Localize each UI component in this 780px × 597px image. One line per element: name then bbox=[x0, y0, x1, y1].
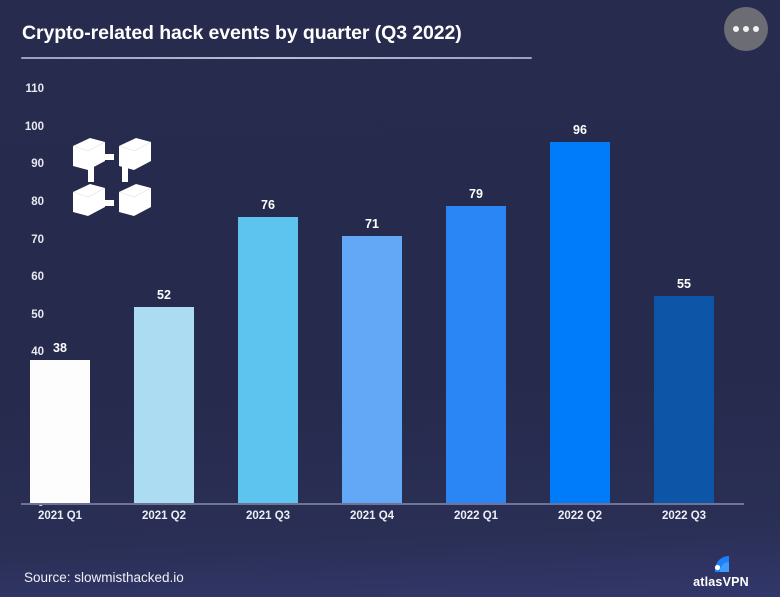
bar-group: 96 bbox=[550, 142, 610, 503]
atlasvpn-signal-icon bbox=[678, 548, 764, 574]
more-dot-2 bbox=[743, 26, 749, 32]
bar-group: 76 bbox=[238, 217, 298, 503]
bar[interactable] bbox=[446, 206, 506, 503]
brand-name: atlasVPN bbox=[678, 575, 764, 589]
bar-group: 55 bbox=[654, 296, 714, 503]
more-dot-3 bbox=[753, 26, 759, 32]
bar-value-label: 38 bbox=[30, 341, 90, 355]
bars-layer: 382021 Q1522021 Q2762021 Q3712021 Q47920… bbox=[0, 72, 780, 532]
source-label: Source: slowmisthacked.io bbox=[24, 570, 184, 585]
bar-value-label: 79 bbox=[446, 187, 506, 201]
page-title: Crypto-related hack events by quarter (Q… bbox=[22, 22, 462, 45]
chart-header: Crypto-related hack events by quarter (Q… bbox=[0, 0, 780, 72]
bar-group: 52 bbox=[134, 307, 194, 503]
x-axis-label: 2021 Q1 bbox=[8, 510, 112, 522]
title-underline bbox=[21, 57, 532, 59]
x-axis-label: 2022 Q2 bbox=[528, 510, 632, 522]
bar-value-label: 76 bbox=[238, 198, 298, 212]
bar[interactable] bbox=[30, 360, 90, 503]
x-axis-label: 2021 Q3 bbox=[216, 510, 320, 522]
bar[interactable] bbox=[654, 296, 714, 503]
bar[interactable] bbox=[134, 307, 194, 503]
bar-chart: 1101009080706050403020100 382021 Q152202… bbox=[0, 72, 780, 532]
bar-group: 79 bbox=[446, 206, 506, 503]
bar-value-label: 55 bbox=[654, 277, 714, 291]
x-axis-label: 2022 Q3 bbox=[632, 510, 736, 522]
more-horizontal-icon[interactable] bbox=[724, 7, 768, 51]
bar-value-label: 96 bbox=[550, 123, 610, 137]
bar-group: 38 bbox=[30, 360, 90, 503]
bar-value-label: 52 bbox=[134, 288, 194, 302]
bar-group: 71 bbox=[342, 236, 402, 503]
x-axis-label: 2022 Q1 bbox=[424, 510, 528, 522]
bar[interactable] bbox=[238, 217, 298, 503]
brand-logo: atlasVPN bbox=[678, 548, 764, 589]
more-dot-1 bbox=[733, 26, 739, 32]
x-axis-label: 2021 Q4 bbox=[320, 510, 424, 522]
x-axis-label: 2021 Q2 bbox=[112, 510, 216, 522]
bar[interactable] bbox=[550, 142, 610, 503]
bar[interactable] bbox=[342, 236, 402, 503]
chart-footer: Source: slowmisthacked.io atlasVPN bbox=[0, 532, 780, 597]
bar-value-label: 71 bbox=[342, 217, 402, 231]
